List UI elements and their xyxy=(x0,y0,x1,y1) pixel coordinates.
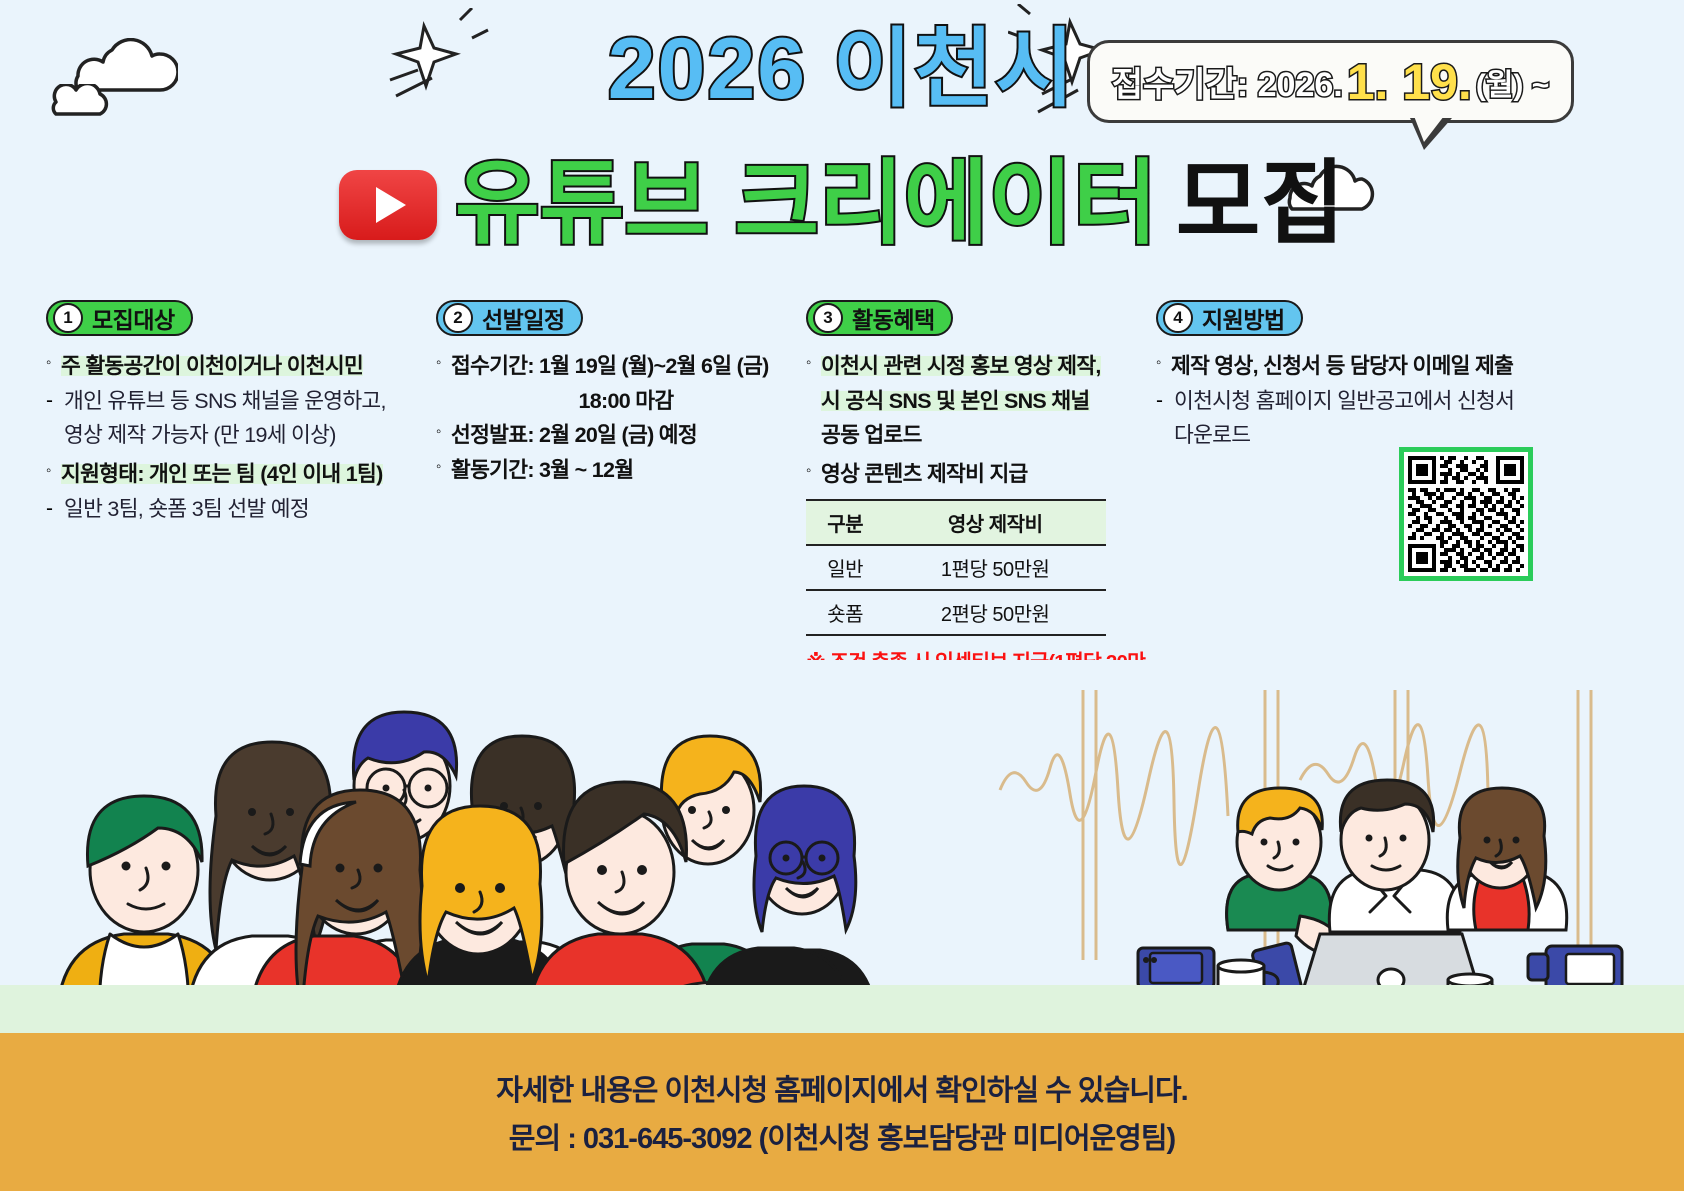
table-cell-category: 숏폼 xyxy=(806,590,884,635)
section-3-item-0: 이천시 관련 시정 홍보 영상 제작, xyxy=(821,354,1101,378)
youtube-play-icon xyxy=(339,170,437,240)
table-cell-category: 일반 xyxy=(806,545,884,590)
bubble-label: 접수기간: 2026. xyxy=(1112,57,1343,106)
section-4-item-1: 이천시청 홈페이지 일반공고에서 신청서 xyxy=(1174,389,1514,413)
list-item: 시 공식 SNS 및 본인 SNS 채널 xyxy=(806,385,1146,418)
bubble-highlight-date: 1. 19. xyxy=(1347,53,1472,111)
list-item: ◦제작 영상, 신청서 등 담당자 이메일 제출 xyxy=(1156,350,1556,383)
table-row: 일반 1편당 50만원 xyxy=(806,545,1106,590)
list-item: - 일반 3팀, 숏폼 3팀 선발 예정 xyxy=(46,493,446,526)
section-3-item-1: 시 공식 SNS 및 본인 SNS 채널 xyxy=(821,389,1090,413)
section-2-item-3: 활동기간: 3월 ~ 12월 xyxy=(451,458,633,482)
list-item: ◦주 활동공간이 이천이거나 이천시민 xyxy=(46,350,446,383)
section-3-item-3: 영상 콘텐츠 제작비 지급 xyxy=(821,462,1028,486)
section-4-number: 4 xyxy=(1163,303,1193,333)
list-item: ◦이천시 관련 시정 홍보 영상 제작, xyxy=(806,350,1146,383)
table-row: 숏폼 2편당 50만원 xyxy=(806,590,1106,635)
list-item: ◦접수기간: 1월 19일 (월)~2월 6일 (금) xyxy=(436,350,816,383)
section-2-item-2: 선정발표: 2월 20일 (금) 예정 xyxy=(451,423,697,447)
section-3-number: 3 xyxy=(813,303,843,333)
section-1-number: 1 xyxy=(53,303,83,333)
illustration-svg: .ln{fill:none;stroke:#1a1a1a;stroke-widt… xyxy=(0,660,1684,1040)
section-1-item-1: 개인 유튜브 등 SNS 채널을 운영하고, xyxy=(64,389,386,413)
footer-line-2: 문의 : 031-645-3092 (이천시청 홍보담당관 미디어운영팀) xyxy=(509,1115,1175,1157)
list-item: ◦활동기간: 3월 ~ 12월 xyxy=(436,454,816,487)
table-cell-fee: 1편당 50만원 xyxy=(884,545,1106,590)
illustration-area: .ln{fill:none;stroke:#1a1a1a;stroke-widt… xyxy=(0,660,1684,1040)
production-fee-table: 구분 영상 제작비 일반 1편당 50만원 숏폼 2편당 50만원 xyxy=(806,499,1106,636)
section-1: 1 모집대상 ◦주 활동공간이 이천이거나 이천시민 -개인 유튜브 등 SNS… xyxy=(46,300,446,527)
table-header-category: 구분 xyxy=(806,500,884,545)
floor-strip xyxy=(0,985,1684,1033)
title-line-2-black: 모집 xyxy=(1176,154,1345,255)
footer-line-1: 자세한 내용은 이천시청 홈페이지에서 확인하실 수 있습니다. xyxy=(496,1067,1187,1109)
section-4-item-0: 제작 영상, 신청서 등 담당자 이메일 제출 xyxy=(1171,354,1513,378)
section-2-number: 2 xyxy=(443,303,473,333)
section-3-badge: 3 활동혜택 xyxy=(806,300,953,336)
list-item: ◦선정발표: 2월 20일 (금) 예정 xyxy=(436,419,816,452)
application-period-bubble: 접수기간: 2026. 1. 19. (월) ~ xyxy=(1087,40,1574,123)
list-item: 공동 업로드 xyxy=(806,419,1146,452)
section-2-item-1: 18:00 마감 xyxy=(579,389,674,413)
list-item: -이천시청 홈페이지 일반공고에서 신청서 xyxy=(1156,385,1556,418)
poster-root: 2026 이천시 유튜브 크리에이터 모집 접수기간: 2026. 1. 19.… xyxy=(0,0,1684,1191)
section-1-item-2: 영상 제작 가능자 (만 19세 이상) xyxy=(64,423,336,447)
section-4-title: 지원방법 xyxy=(1202,301,1285,335)
qr-code-image xyxy=(1408,456,1524,572)
title-line-2-green: 유튜브 크리에이터 xyxy=(455,154,1158,255)
list-item: 영상 제작 가능자 (만 19세 이상) xyxy=(46,419,446,452)
qr-code-application-form[interactable] xyxy=(1399,447,1533,581)
section-1-item-0: 주 활동공간이 이천이거나 이천시민 xyxy=(61,354,363,378)
section-3: 3 활동혜택 ◦이천시 관련 시정 홍보 영상 제작, 시 공식 SNS 및 본… xyxy=(806,300,1146,705)
list-item: ◦영상 콘텐츠 제작비 지급 xyxy=(806,458,1146,491)
section-1-item-3: 지원형태: 개인 또는 팀 (4인 이내 1팀) xyxy=(61,462,383,486)
section-4-badge: 4 지원방법 xyxy=(1156,300,1303,336)
table-header-row: 구분 영상 제작비 xyxy=(806,500,1106,545)
footer-bar: 자세한 내용은 이천시청 홈페이지에서 확인하실 수 있습니다. 문의 : 03… xyxy=(0,1033,1684,1191)
bubble-suffix: (월) ~ xyxy=(1476,60,1549,104)
section-1-item-4: 일반 3팀, 숏폼 3팀 선발 예정 xyxy=(64,497,309,521)
bubble-tail xyxy=(1410,118,1452,150)
section-4: 4 지원방법 ◦제작 영상, 신청서 등 담당자 이메일 제출 -이천시청 홈페… xyxy=(1156,300,1556,454)
section-3-item-2: 공동 업로드 xyxy=(821,423,922,447)
section-2-item-0: 접수기간: 1월 19일 (월)~2월 6일 (금) xyxy=(451,354,769,378)
section-2-badge: 2 선발일정 xyxy=(436,300,583,336)
title-line-2: 유튜브 크리에이터 모집 xyxy=(0,142,1684,256)
list-item: 18:00 마감 xyxy=(436,385,816,418)
table-cell-fee: 2편당 50만원 xyxy=(884,590,1106,635)
section-2: 2 선발일정 ◦접수기간: 1월 19일 (월)~2월 6일 (금) 18:00… xyxy=(436,300,816,489)
list-item: -개인 유튜브 등 SNS 채널을 운영하고, xyxy=(46,385,446,418)
list-item: ◦지원형태: 개인 또는 팀 (4인 이내 1팀) xyxy=(46,458,446,491)
section-4-item-2: 다운로드 xyxy=(1174,423,1250,447)
section-1-title: 모집대상 xyxy=(92,301,175,335)
section-1-badge: 1 모집대상 xyxy=(46,300,193,336)
section-3-title: 활동혜택 xyxy=(852,301,935,335)
table-header-fee: 영상 제작비 xyxy=(884,500,1106,545)
section-2-title: 선발일정 xyxy=(482,301,565,335)
